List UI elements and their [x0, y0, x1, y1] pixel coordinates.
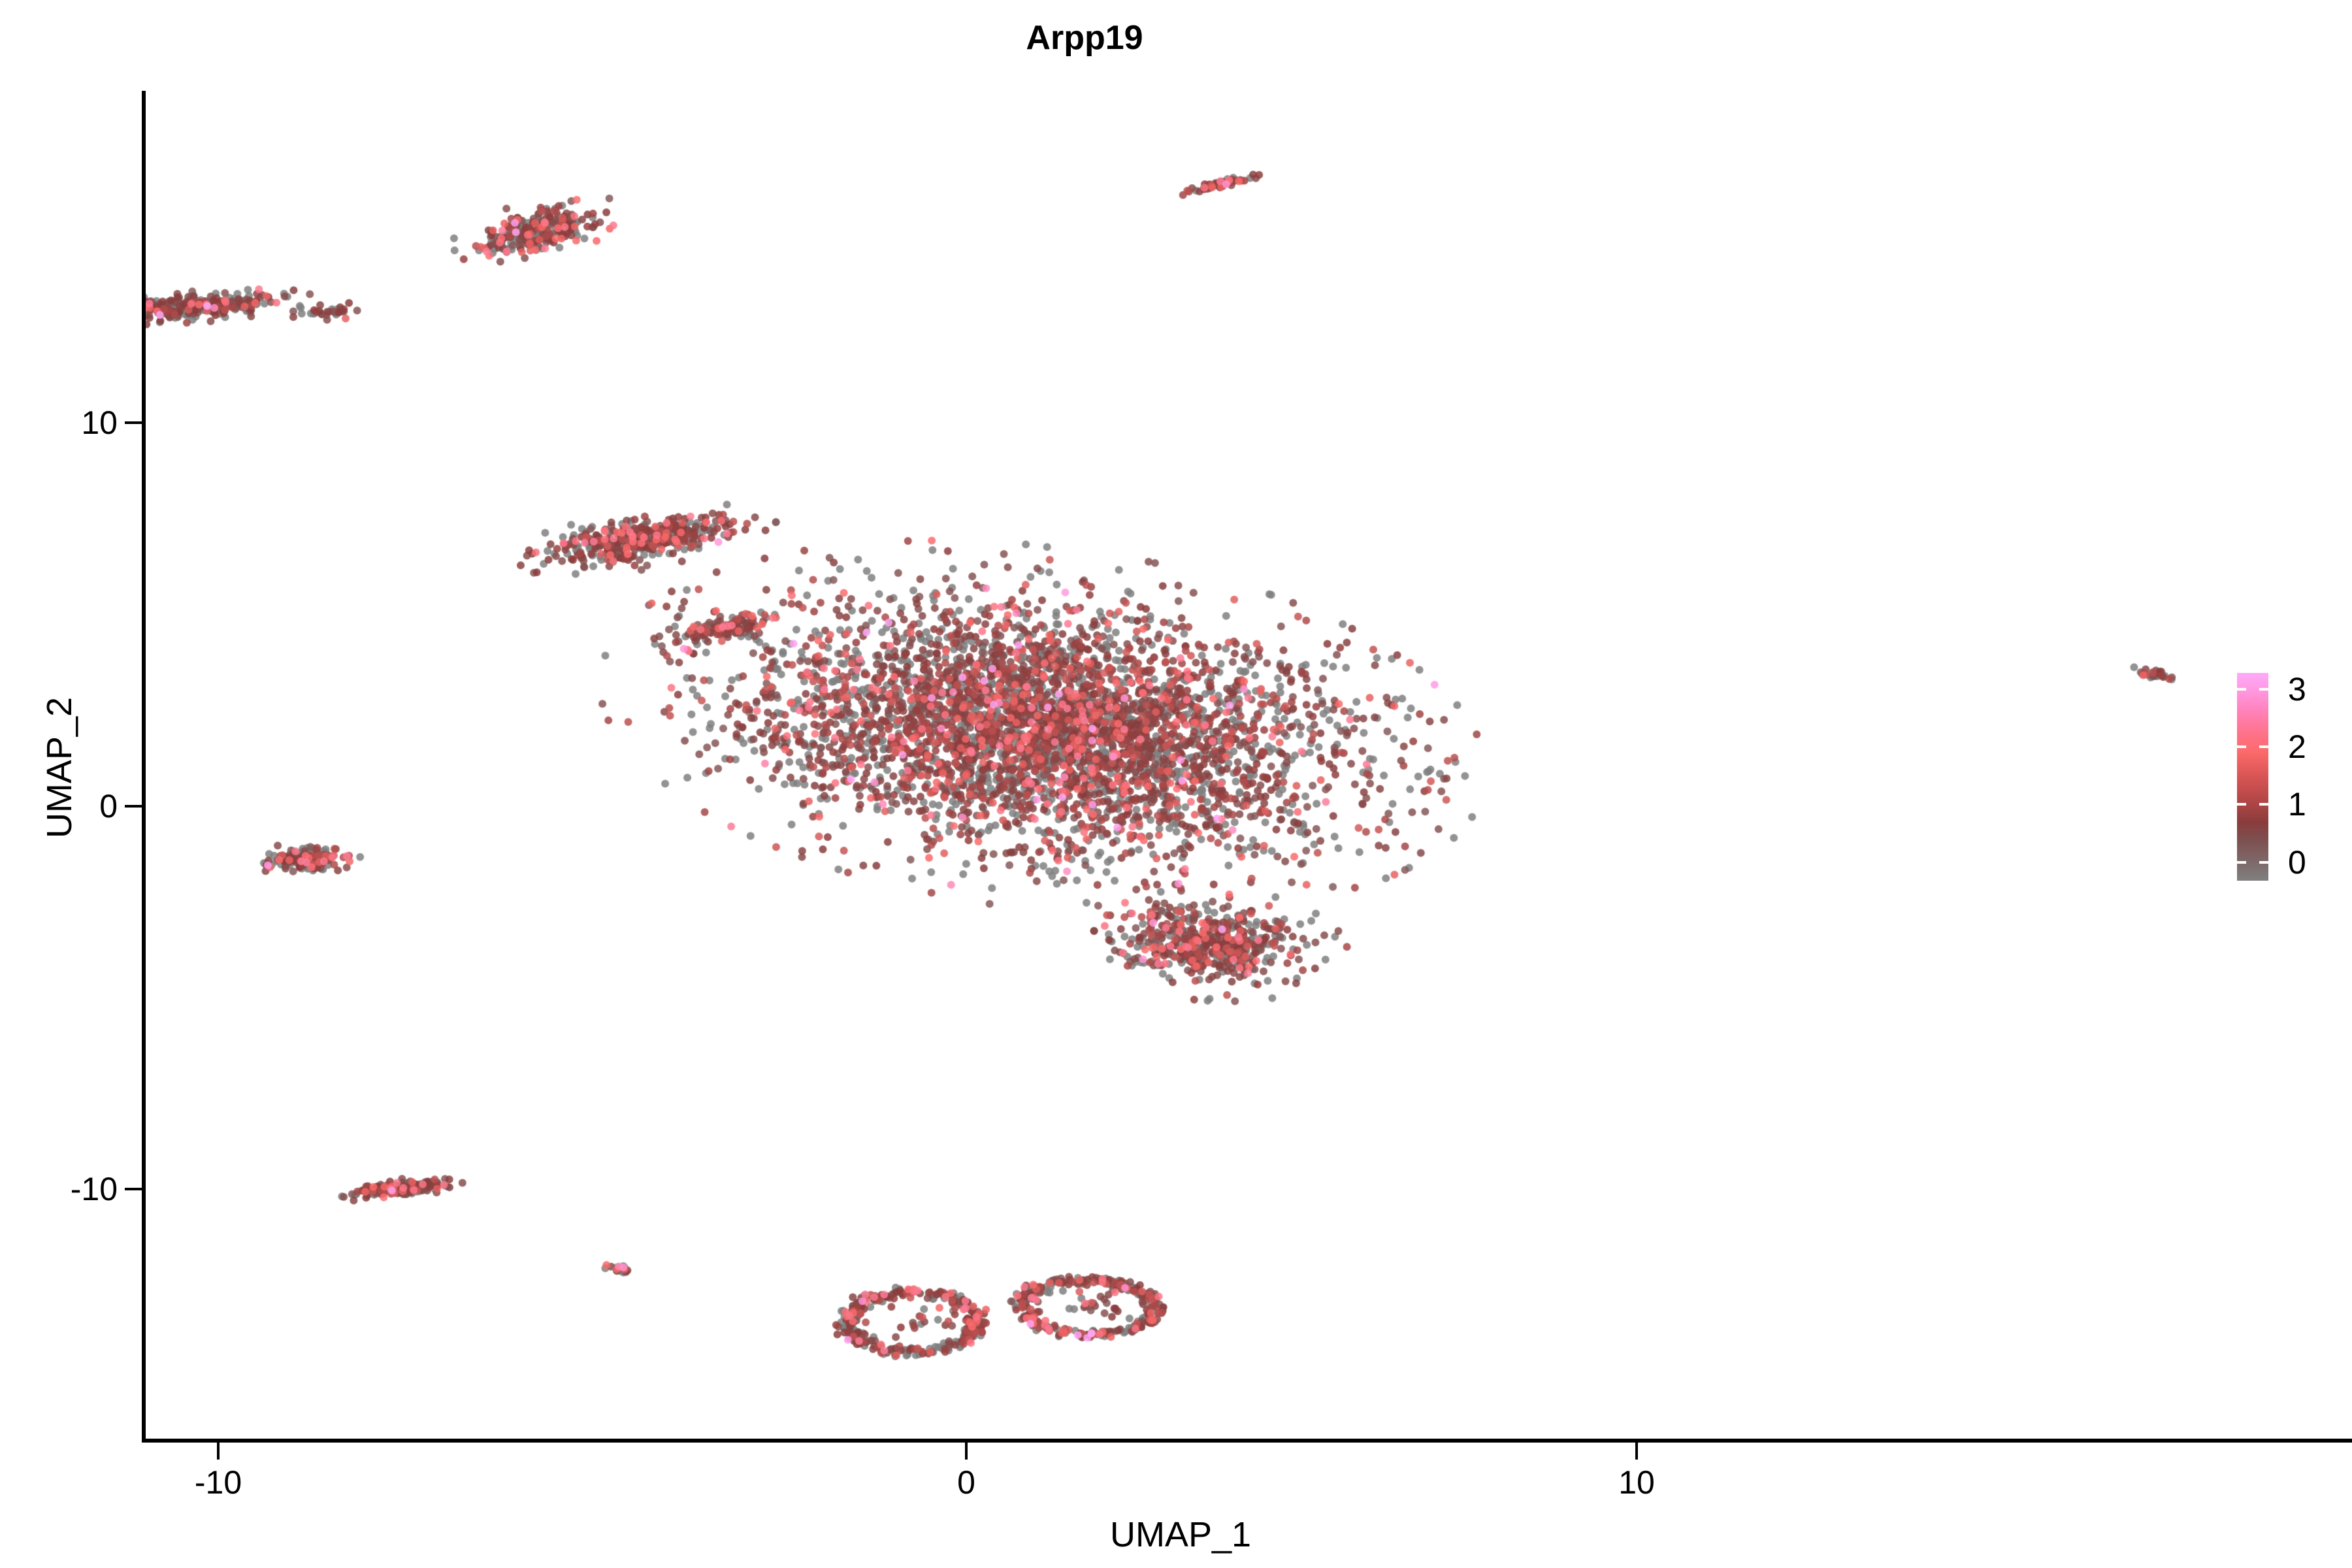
x-tick-mark: [217, 1443, 220, 1460]
x-tick-label: 10: [1618, 1463, 1655, 1501]
y-tick-mark: [125, 805, 142, 808]
y-tick-mark: [125, 421, 142, 424]
colorbar-tick: [2237, 688, 2246, 691]
page-title: Arpp19: [0, 18, 2169, 57]
x-tick-label: 0: [957, 1463, 975, 1501]
colorbar-label: 2: [2288, 728, 2306, 766]
x-axis-line: [142, 1439, 2352, 1443]
x-tick-mark: [965, 1443, 968, 1460]
color-legend: 3 2 1 0: [2237, 673, 2348, 889]
colorbar-gradient: [2237, 673, 2268, 881]
y-tick-mark: [125, 1188, 142, 1190]
y-axis-title: UMAP_2: [39, 376, 80, 1160]
colorbar-tick: [2237, 745, 2246, 748]
colorbar-label: 0: [2288, 843, 2306, 881]
y-tick-label: 10: [81, 404, 118, 442]
colorbar-tick: [2259, 745, 2268, 748]
x-axis-title: UMAP_1: [142, 1514, 2219, 1555]
y-tick-label: -10: [71, 1170, 118, 1208]
colorbar-label: 1: [2288, 785, 2306, 823]
umap-feature-plot: Arpp19 -10 0 10 10 0 -10 UMAP_1 UMAP_2 3…: [0, 0, 2352, 1568]
colorbar-tick: [2237, 803, 2246, 806]
scatter-points-layer: [144, 91, 2221, 1441]
y-axis-line: [142, 91, 146, 1441]
x-tick-label: -10: [195, 1463, 242, 1501]
plot-panel: [144, 91, 2221, 1441]
colorbar-tick: [2259, 688, 2268, 691]
x-tick-mark: [1635, 1443, 1638, 1460]
y-tick-label: 0: [99, 787, 118, 825]
colorbar-tick: [2237, 861, 2246, 864]
colorbar-tick: [2259, 861, 2268, 864]
colorbar-label: 3: [2288, 670, 2306, 708]
colorbar-tick: [2259, 803, 2268, 806]
